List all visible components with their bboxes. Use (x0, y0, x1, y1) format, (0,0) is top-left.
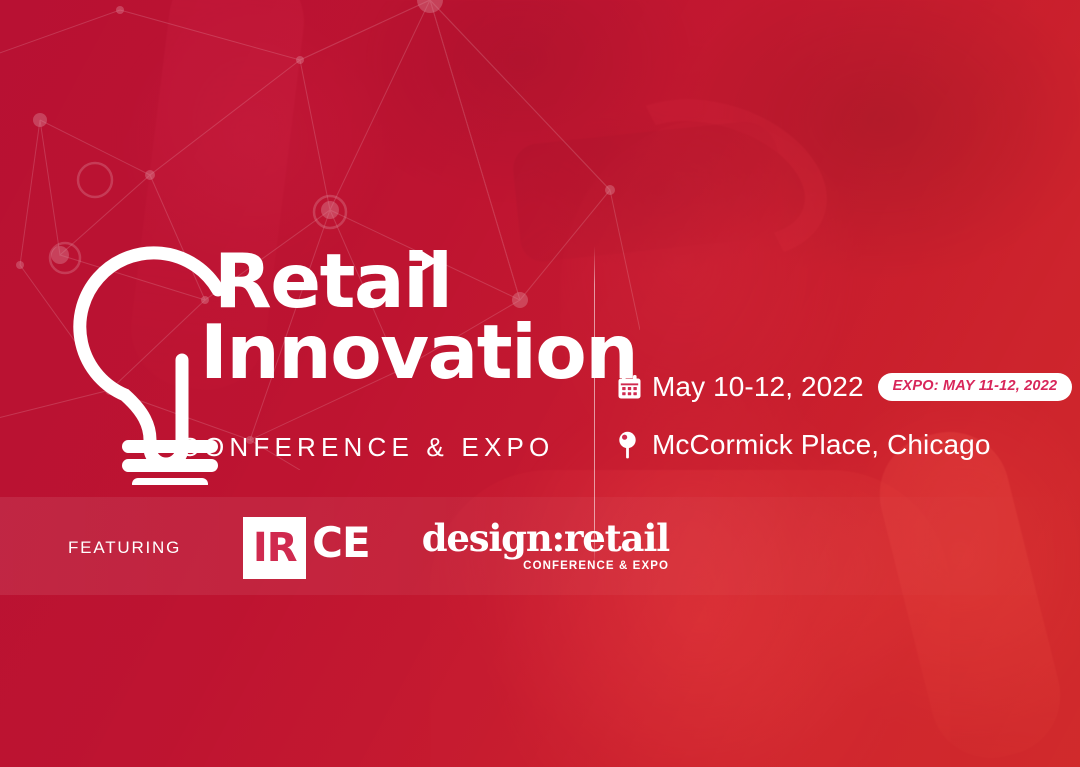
logo-subtitle: CONFERENCE & EXPO (180, 432, 554, 463)
event-logo-lockup: Retail Innovation CONFERENCE & EXPO (70, 240, 570, 485)
map-pin-icon (618, 431, 652, 459)
irce-logo-ir-text: IR (253, 528, 297, 568)
event-date-row: May 10-12, 2022 EXPO: MAY 11-12, 2022 (618, 363, 1048, 411)
event-date-text: May 10-12, 2022 (652, 371, 864, 403)
design-retail-wordmark: design:retail (422, 516, 669, 560)
play-triangle-icon (422, 251, 438, 271)
expo-dates-badge: EXPO: MAY 11-12, 2022 (878, 373, 1073, 401)
calendar-icon (618, 375, 652, 399)
featuring-label: FEATURING (68, 538, 181, 558)
event-location-row: McCormick Place, Chicago (618, 421, 1048, 469)
featuring-row: FEATURING IR CE design:retail CONFERENCE… (68, 517, 669, 579)
logo-line-retail: Retail (214, 244, 620, 319)
design-retail-subtitle: CONFERENCE & EXPO (422, 560, 669, 572)
irce-logo-ce-group: CE (312, 517, 370, 564)
irce-logo: IR CE (243, 517, 370, 579)
logo-wordmark: Retail Innovation (200, 244, 620, 390)
event-location-text: McCormick Place, Chicago (652, 429, 991, 461)
design-retail-logo: design:retail CONFERENCE & EXPO (422, 520, 669, 576)
event-details: May 10-12, 2022 EXPO: MAY 11-12, 2022 Mc… (618, 363, 1048, 469)
logo-line-innovation: Innovation (200, 315, 620, 390)
logo-line1-text: Retail (214, 237, 452, 325)
irce-logo-ce-text: CE (312, 518, 370, 567)
event-promo-banner: Retail Innovation CONFERENCE & EXPO (0, 0, 1080, 767)
irce-logo-box: IR (243, 517, 306, 579)
